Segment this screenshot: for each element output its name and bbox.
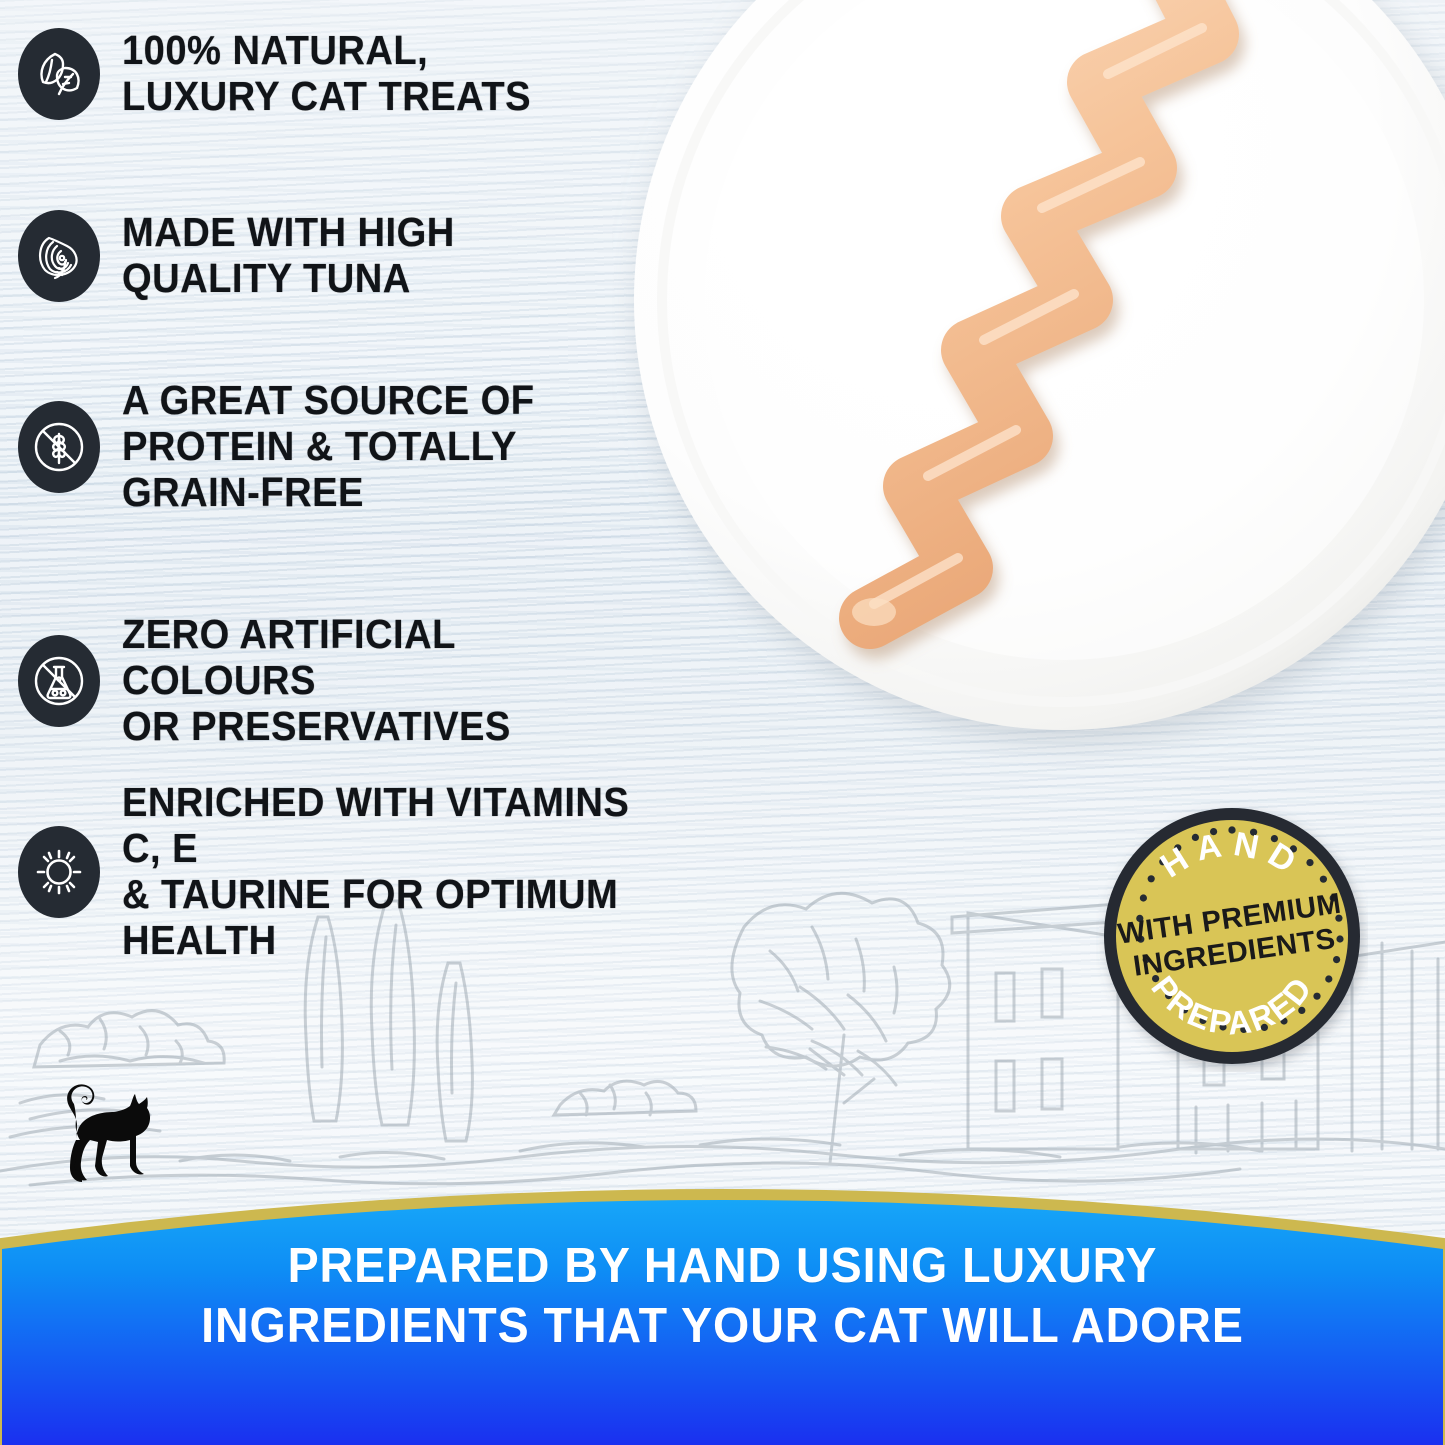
feature-list: 100% NATURAL, LUXURY CAT TREATS MADE WIT… (0, 0, 700, 980)
leaves-icon (18, 28, 100, 120)
banner-caption: PREPARED BY HAND USING LUXURY INGREDIENT… (36, 1237, 1409, 1357)
no-grain-icon (18, 401, 100, 493)
plate-with-treat (612, 0, 1445, 890)
feature-text: ZERO ARTIFICIAL COLOURS OR PRESERVATIVES (122, 612, 660, 750)
feature-item-vitamins: ENRICHED WITH VITAMINS C, E & TAURINE FO… (18, 780, 700, 964)
feature-text: A GREAT SOURCE OF PROTEIN & TOTALLY GRAI… (122, 378, 535, 516)
product-feature-graphic: 100% NATURAL, LUXURY CAT TREATS MADE WIT… (0, 0, 1445, 1445)
no-chemicals-flask-icon (18, 635, 100, 727)
feature-text: ENRICHED WITH VITAMINS C, E & TAURINE FO… (122, 780, 660, 964)
feature-text: 100% NATURAL, LUXURY CAT TREATS (122, 28, 531, 120)
hand-prepared-badge: HAND WITH PREMIUM INGREDIENTS PREPARED (1096, 800, 1368, 1072)
bottom-banner: PREPARED BY HAND USING LUXURY INGREDIENT… (0, 1173, 1445, 1445)
tuna-steak-icon (18, 210, 100, 302)
feature-item-no-artificial: ZERO ARTIFICIAL COLOURS OR PRESERVATIVES (18, 612, 700, 750)
feature-item-tuna: MADE WITH HIGH QUALITY TUNA (18, 210, 480, 302)
feature-text: MADE WITH HIGH QUALITY TUNA (122, 210, 455, 302)
feature-item-grain-free: A GREAT SOURCE OF PROTEIN & TOTALLY GRAI… (18, 378, 566, 516)
sun-vitamin-icon (18, 826, 100, 918)
feature-item-natural: 100% NATURAL, LUXURY CAT TREATS (18, 28, 562, 120)
